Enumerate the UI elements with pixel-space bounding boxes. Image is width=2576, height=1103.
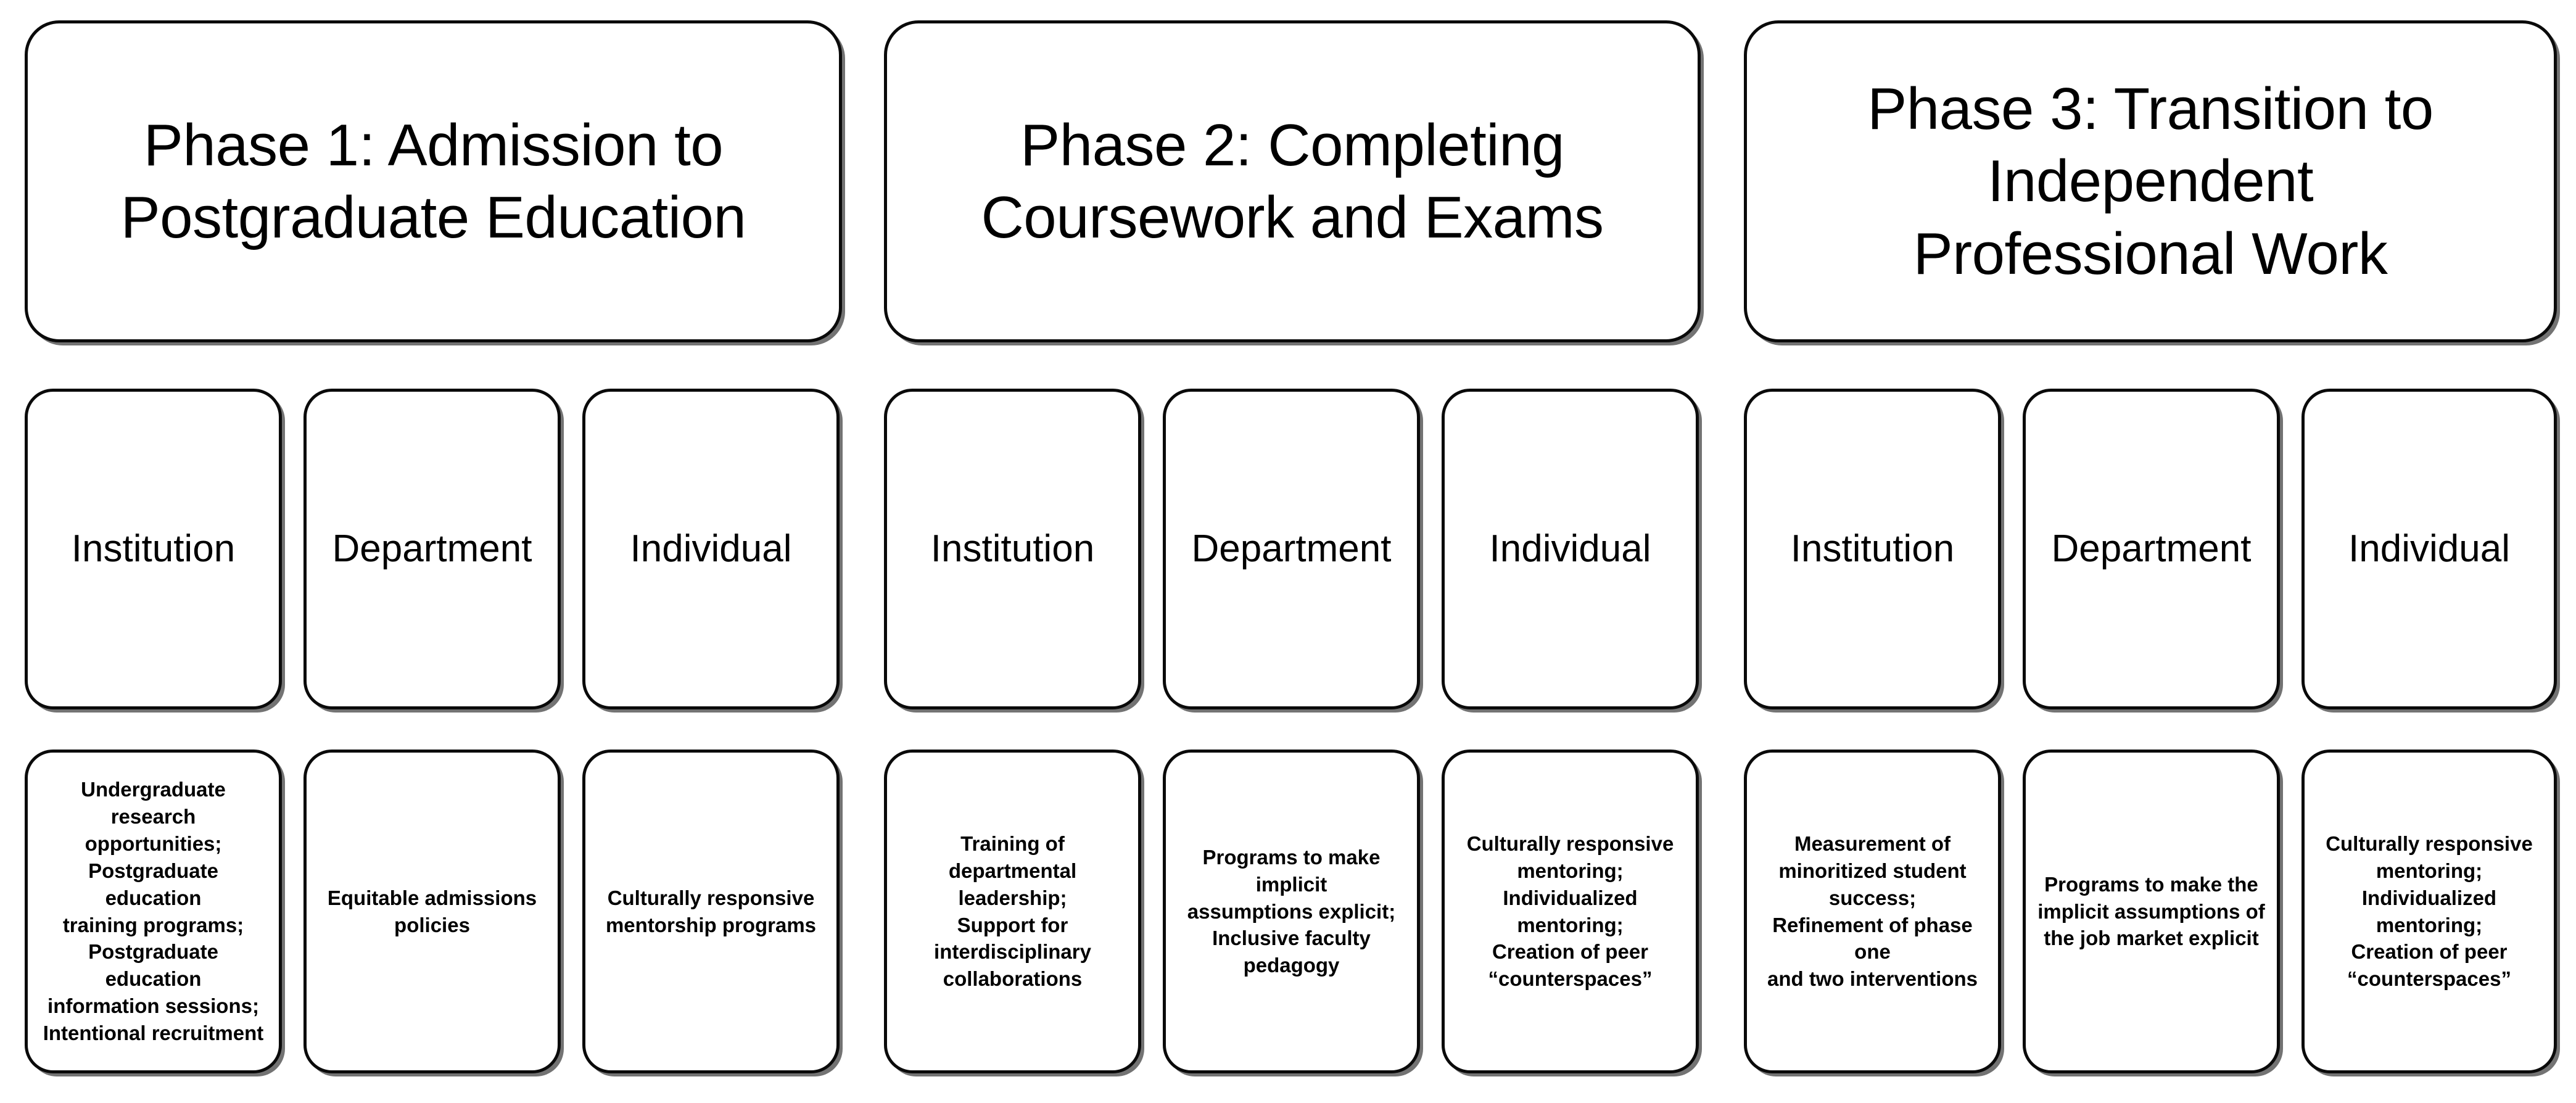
intervention-box-phase2-institution: Training of departmental leadership; Sup… (884, 750, 1141, 1073)
level-box-phase1-individual: Individual (582, 389, 840, 709)
level-box-phase3-department: Department (2023, 389, 2280, 709)
level-box-phase2-institution: Institution (884, 389, 1141, 709)
level-label-phase3-institution: Institution (1791, 527, 1954, 571)
phase-box-1: Phase 1: Admission to Postgraduate Educa… (25, 20, 842, 342)
level-label-phase1-institution: Institution (72, 527, 235, 571)
level-box-phase2-department: Department (1163, 389, 1420, 709)
intervention-box-phase2-individual: Culturally responsive mentoring; Individ… (1442, 750, 1699, 1073)
intervention-text-phase2-individual: Culturally responsive mentoring; Individ… (1445, 830, 1696, 993)
intervention-text-phase2-institution: Training of departmental leadership; Sup… (887, 830, 1138, 993)
level-box-phase3-individual: Individual (2301, 389, 2557, 709)
intervention-text-phase3-department: Programs to make the implicit assumption… (2026, 871, 2276, 952)
intervention-text-phase3-individual: Culturally responsive mentoring; Individ… (2305, 830, 2554, 993)
intervention-box-phase2-department: Programs to make implicit assumptions ex… (1163, 750, 1420, 1073)
intervention-box-phase3-department: Programs to make the implicit assumption… (2023, 750, 2280, 1073)
intervention-text-phase3-institution: Measurement of minoritized student succe… (1747, 830, 1998, 993)
phase-box-2: Phase 2: Completing Coursework and Exams (884, 20, 1701, 342)
intervention-box-phase3-individual: Culturally responsive mentoring; Individ… (2301, 750, 2557, 1073)
intervention-text-phase1-department: Equitable admissions policies (316, 885, 548, 939)
level-label-phase1-department: Department (332, 527, 532, 571)
intervention-box-phase1-institution: Undergraduate research opportunities; Po… (25, 750, 282, 1073)
intervention-text-phase2-department: Programs to make implicit assumptions ex… (1166, 844, 1417, 979)
phase-3-label: Phase 3: Transition to Independent Profe… (1851, 73, 2450, 289)
intervention-text-phase1-individual: Culturally responsive mentorship program… (595, 885, 827, 939)
intervention-box-phase1-individual: Culturally responsive mentorship program… (582, 750, 840, 1073)
level-box-phase2-individual: Individual (1442, 389, 1699, 709)
intervention-box-phase1-department: Equitable admissions policies (303, 750, 561, 1073)
phase-1-label: Phase 1: Admission to Postgraduate Educa… (105, 109, 762, 254)
level-label-phase1-individual: Individual (630, 527, 792, 571)
level-label-phase3-individual: Individual (2348, 527, 2510, 571)
level-label-phase2-individual: Individual (1490, 527, 1651, 571)
level-box-phase1-department: Department (303, 389, 561, 709)
level-label-phase3-department: Department (2052, 527, 2252, 571)
level-box-phase1-institution: Institution (25, 389, 282, 709)
phase-2-label: Phase 2: Completing Coursework and Exams (965, 109, 1619, 254)
level-box-phase3-institution: Institution (1744, 389, 2001, 709)
phase-box-3: Phase 3: Transition to Independent Profe… (1744, 20, 2557, 342)
diagram-canvas: Phase 1: Admission to Postgraduate Educa… (0, 0, 2576, 1103)
intervention-box-phase3-institution: Measurement of minoritized student succe… (1744, 750, 2001, 1073)
level-label-phase2-institution: Institution (931, 527, 1094, 571)
level-label-phase2-department: Department (1192, 527, 1392, 571)
intervention-text-phase1-institution: Undergraduate research opportunities; Po… (28, 776, 279, 1047)
